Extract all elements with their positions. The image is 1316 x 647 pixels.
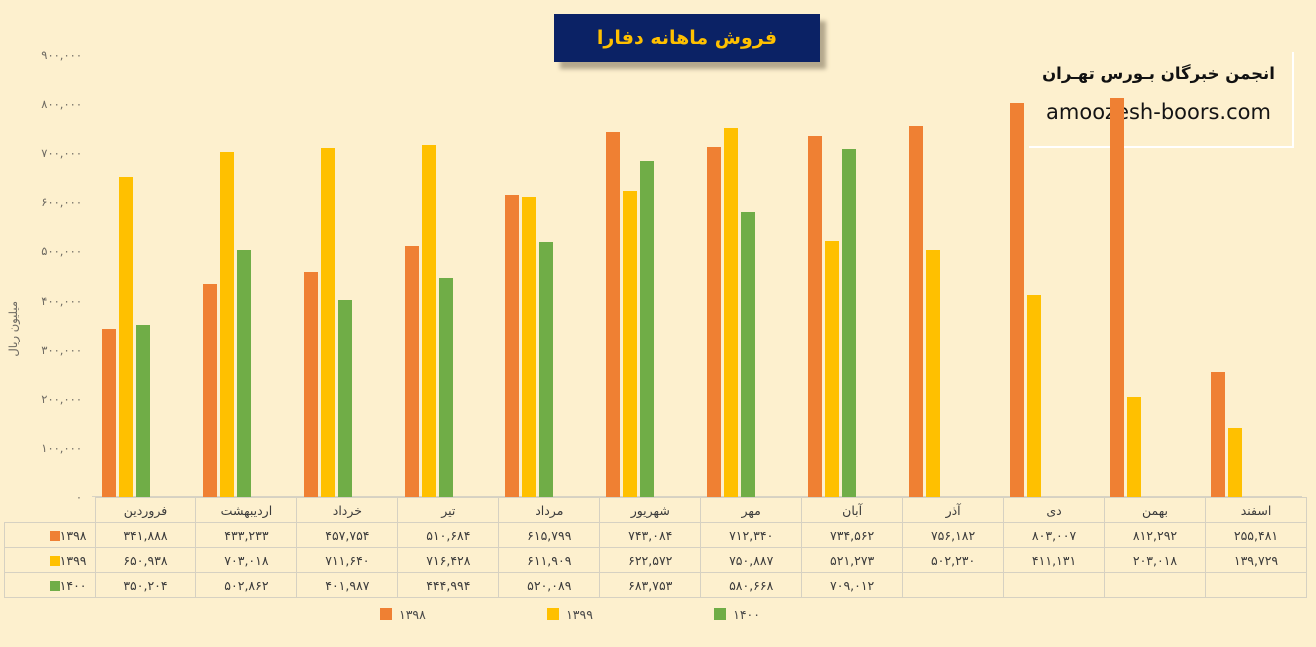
y-axis-tick: ۵۰۰,۰۰۰ (41, 244, 82, 258)
table-row: ۱۳۹۸۳۴۱,۸۸۸۴۳۳,۲۳۳۴۵۷,۷۵۴۵۱۰,۶۸۴۶۱۵,۷۹۹۷… (5, 523, 1307, 548)
table-cell-value: ۶۱۱,۹۰۹ (499, 548, 600, 573)
y-axis-title: میلیون ریال (6, 301, 20, 357)
page-title: فروش ماهانه دفارا (597, 27, 777, 49)
legend-label: ۱۴۰۰ (733, 607, 760, 622)
table-cell-value: ۵۱۰,۶۸۴ (398, 523, 499, 548)
table-cell-value: ۷۰۹,۰۱۲ (802, 573, 903, 598)
table-series-label: ۱۳۹۸ (5, 523, 96, 548)
table-cell-value: ۲۰۳,۰۱۸ (1105, 548, 1206, 573)
table-row: ۱۳۹۹۶۵۰,۹۳۸۷۰۳,۰۱۸۷۱۱,۶۴۰۷۱۶,۴۲۸۶۱۱,۹۰۹۶… (5, 548, 1307, 573)
bar-0 (1110, 98, 1124, 497)
table-cell-value: ۴۳۳,۲۳۳ (196, 523, 297, 548)
bar-group (899, 55, 1000, 497)
bar-0 (606, 132, 620, 497)
legend-item[interactable]: ۱۴۰۰ (714, 607, 760, 622)
table-cell-value: ۶۸۳,۷۵۳ (600, 573, 701, 598)
plot-area (92, 55, 1302, 497)
data-table-body: فروردیناردیبهشتخردادتیرمردادشهریورمهرآبا… (5, 498, 1307, 598)
series-name: ۱۳۹۸ (60, 528, 87, 543)
bar-group (1000, 55, 1101, 497)
bar-2 (439, 278, 453, 497)
table-cell-value: ۳۵۰,۲۰۴ (95, 573, 196, 598)
table-month-header: فروردین (95, 498, 196, 523)
table-cell-value: ۳۴۱,۸۸۸ (95, 523, 196, 548)
y-axis-tick: ۳۰۰,۰۰۰ (41, 343, 82, 357)
table-cell-value: ۲۵۵,۴۸۱ (1205, 523, 1306, 548)
bar-0 (1211, 372, 1225, 497)
bar-1 (623, 191, 637, 497)
bar-1 (825, 241, 839, 497)
table-cell-empty (1105, 573, 1206, 598)
bar-1 (1027, 295, 1041, 497)
table-cell-value: ۸۰۳,۰۰۷ (1004, 523, 1105, 548)
bar-0 (707, 147, 721, 497)
series-color-swatch-icon (50, 531, 60, 541)
bar-group (596, 55, 697, 497)
table-cell-value: ۷۰۳,۰۱۸ (196, 548, 297, 573)
table-month-header: تیر (398, 498, 499, 523)
bar-group (798, 55, 899, 497)
table-series-label: ۱۳۹۹ (5, 548, 96, 573)
table-cell-value: ۴۰۱,۹۸۷ (297, 573, 398, 598)
table-header-row: فروردیناردیبهشتخردادتیرمردادشهریورمهرآبا… (5, 498, 1307, 523)
y-axis: میلیون ریال ۹۰۰,۰۰۰۸۰۰,۰۰۰۷۰۰,۰۰۰۶۰۰,۰۰۰… (0, 55, 92, 507)
table-cell-value: ۶۱۵,۷۹۹ (499, 523, 600, 548)
table-series-label: ۱۴۰۰ (5, 573, 96, 598)
bar-1 (422, 145, 436, 497)
table-cell-value: ۶۵۰,۹۳۸ (95, 548, 196, 573)
bar-0 (909, 126, 923, 497)
table-month-header: اسفند (1205, 498, 1306, 523)
bar-0 (102, 329, 116, 497)
table-cell-empty (903, 573, 1004, 598)
bar-2 (338, 300, 352, 497)
bar-1 (1127, 397, 1141, 497)
table-cell-value: ۴۵۷,۷۵۴ (297, 523, 398, 548)
table-cell-value: ۵۲۰,۰۸۹ (499, 573, 600, 598)
bar-group (697, 55, 798, 497)
bar-2 (741, 212, 755, 497)
bar-2 (539, 242, 553, 497)
legend-item[interactable]: ۱۳۹۸ (380, 607, 426, 622)
y-axis-tick: ۲۰۰,۰۰۰ (41, 392, 82, 406)
table-month-header: اردیبهشت (196, 498, 297, 523)
table-cell-value: ۸۱۲,۲۹۲ (1105, 523, 1206, 548)
table-cell-value: ۴۴۴,۹۹۴ (398, 573, 499, 598)
table-month-header: مرداد (499, 498, 600, 523)
bar-0 (808, 136, 822, 497)
table-cell-value: ۷۵۰,۸۸۷ (701, 548, 802, 573)
y-axis-tick: ۸۰۰,۰۰۰ (41, 97, 82, 111)
table-month-header: بهمن (1105, 498, 1206, 523)
chart-legend: ۱۳۹۸۱۳۹۹۱۴۰۰ (380, 602, 760, 626)
y-axis-tick: ۹۰۰,۰۰۰ (41, 48, 82, 62)
table-cell-value: ۶۲۲,۵۷۲ (600, 548, 701, 573)
legend-color-swatch-icon (547, 608, 559, 620)
chart-page: فروش ماهانه دفارا انجمن خبرگان بـورس تهـ… (0, 0, 1316, 647)
y-axis-tick: ۱۰۰,۰۰۰ (41, 441, 82, 455)
bar-1 (926, 250, 940, 497)
table-cell-value: ۵۰۲,۸۶۲ (196, 573, 297, 598)
table-cell-value: ۵۰۲,۲۳۰ (903, 548, 1004, 573)
y-axis-tick: ۷۰۰,۰۰۰ (41, 146, 82, 160)
bar-group (193, 55, 294, 497)
bar-1 (724, 128, 738, 497)
bar-group (294, 55, 395, 497)
bar-0 (405, 246, 419, 497)
table-month-header: خرداد (297, 498, 398, 523)
table-cell-value: ۷۵۶,۱۸۲ (903, 523, 1004, 548)
table-cell-value: ۵۲۱,۲۷۳ (802, 548, 903, 573)
bar-group (1201, 55, 1302, 497)
y-axis-tick: ۴۰۰,۰۰۰ (41, 294, 82, 308)
table-cell-value: ۷۱۱,۶۴۰ (297, 548, 398, 573)
series-name: ۱۳۹۹ (60, 553, 87, 568)
legend-color-swatch-icon (380, 608, 392, 620)
bar-1 (220, 152, 234, 497)
bar-2 (237, 250, 251, 497)
table-month-header: آبان (802, 498, 903, 523)
bar-1 (321, 148, 335, 497)
series-color-swatch-icon (50, 556, 60, 566)
table-cell-value: ۱۳۹,۷۲۹ (1205, 548, 1306, 573)
table-cell-value: ۷۱۲,۳۴۰ (701, 523, 802, 548)
bar-0 (203, 284, 217, 497)
data-table-wrap: فروردیناردیبهشتخردادتیرمردادشهریورمهرآبا… (4, 497, 1307, 593)
table-cell-empty (1004, 573, 1105, 598)
legend-label: ۱۳۹۸ (399, 607, 426, 622)
bar-0 (1010, 103, 1024, 497)
bar-0 (304, 272, 318, 497)
legend-color-swatch-icon (714, 608, 726, 620)
bar-2 (640, 161, 654, 497)
table-cell-value: ۷۳۴,۵۶۲ (802, 523, 903, 548)
bar-2 (136, 325, 150, 497)
table-cell-empty (1205, 573, 1306, 598)
table-row: ۱۴۰۰۳۵۰,۲۰۴۵۰۲,۸۶۲۴۰۱,۹۸۷۴۴۴,۹۹۴۵۲۰,۰۸۹۶… (5, 573, 1307, 598)
table-month-header: دی (1004, 498, 1105, 523)
bar-group (395, 55, 496, 497)
bar-1 (1228, 428, 1242, 497)
table-cell-value: ۷۱۶,۴۲۸ (398, 548, 499, 573)
table-month-header: شهریور (600, 498, 701, 523)
table-cell-value: ۷۴۳,۰۸۴ (600, 523, 701, 548)
data-table: فروردیناردیبهشتخردادتیرمردادشهریورمهرآبا… (4, 497, 1307, 598)
bar-1 (522, 197, 536, 498)
bar-2 (842, 149, 856, 497)
bar-group (92, 55, 193, 497)
table-cell-value: ۴۱۱,۱۳۱ (1004, 548, 1105, 573)
bar-0 (505, 195, 519, 497)
y-axis-tick: ۶۰۰,۰۰۰ (41, 195, 82, 209)
bar-1 (119, 177, 133, 497)
bar-group (1100, 55, 1201, 497)
bar-group (495, 55, 596, 497)
series-name: ۱۴۰۰ (60, 578, 87, 593)
table-corner-cell (5, 498, 96, 523)
legend-item[interactable]: ۱۳۹۹ (547, 607, 593, 622)
table-month-header: آذر (903, 498, 1004, 523)
legend-label: ۱۳۹۹ (566, 607, 593, 622)
table-cell-value: ۵۸۰,۶۶۸ (701, 573, 802, 598)
table-month-header: مهر (701, 498, 802, 523)
series-color-swatch-icon (50, 581, 60, 591)
